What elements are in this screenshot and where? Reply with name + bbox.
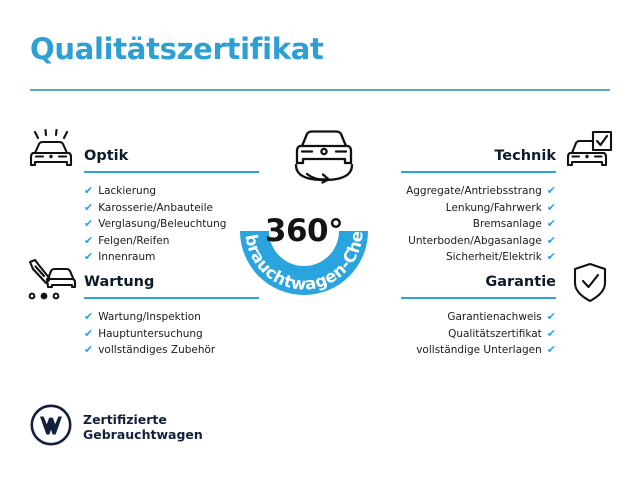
list-item-label: Felgen/Reifen <box>98 233 169 250</box>
check-icon: ✔ <box>547 200 556 217</box>
page-title: Qualitätszertifikat <box>30 32 324 66</box>
car-rotate-icon <box>282 124 366 190</box>
check-icon: ✔ <box>84 200 93 217</box>
list-item: vollständige Unterlagen✔ <box>401 342 556 359</box>
list-item-label: Wartung/Inspektion <box>98 309 201 326</box>
check-icon: ✔ <box>84 183 93 200</box>
list-item: ✔vollständiges Zubehör <box>84 342 259 359</box>
list-item-label: Sicherheit/Elektrik <box>446 249 542 266</box>
car-checkbox-icon <box>562 129 614 177</box>
check-icon: ✔ <box>547 309 556 326</box>
list-item-label: Aggregate/Antriebsstrang <box>406 183 542 200</box>
checklist: Aggregate/Antriebsstrang✔ Lenkung/Fahrwe… <box>401 183 556 266</box>
check-icon: ✔ <box>84 216 93 233</box>
list-item-label: Bremsanlage <box>473 216 542 233</box>
section-header: Garantie <box>401 272 556 302</box>
check-icon: ✔ <box>84 309 93 326</box>
shield-check-icon <box>570 261 610 309</box>
section-garantie: Garantie Garantienachweis✔ Qualitätszert… <box>401 272 556 375</box>
list-item-label: Qualitätszertifikat <box>448 326 542 343</box>
vw-footer-text: Zertifizierte Gebrauchtwagen <box>83 412 203 443</box>
list-item: Lenkung/Fahrwerk✔ <box>401 200 556 217</box>
check-icon: ✔ <box>547 249 556 266</box>
check-icon: ✔ <box>547 183 556 200</box>
qualitaetszertifikat-page: Qualitätszertifikat <box>0 0 640 480</box>
list-item-label: Lenkung/Fahrwerk <box>446 200 542 217</box>
vw-logo-icon <box>30 404 72 450</box>
check-icon: ✔ <box>547 326 556 343</box>
list-item-label: Unterboden/Abgasanlage <box>408 233 542 250</box>
list-item: Garantienachweis✔ <box>401 309 556 326</box>
list-item-label: vollständige Unterlagen <box>416 342 542 359</box>
title-divider <box>30 89 610 91</box>
section-divider <box>401 297 556 299</box>
list-item-label: Innenraum <box>98 249 155 266</box>
list-item-label: Karosserie/Anbauteile <box>98 200 213 217</box>
list-item: Bremsanlage✔ <box>401 216 556 233</box>
list-item-label: vollständiges Zubehör <box>98 342 215 359</box>
list-item-label: Garantienachweis <box>447 309 541 326</box>
check-icon: ✔ <box>84 233 93 250</box>
list-item: ✔Wartung/Inspektion <box>84 309 259 326</box>
check-icon: ✔ <box>547 233 556 250</box>
section-divider <box>401 171 556 173</box>
check-icon: ✔ <box>547 216 556 233</box>
section-title: Technik <box>401 146 556 166</box>
section-title: Garantie <box>401 272 556 292</box>
check-icon: ✔ <box>84 342 93 359</box>
list-item-label: Lackierung <box>98 183 156 200</box>
car-shine-icon <box>26 129 76 177</box>
wrench-car-icon <box>24 258 78 308</box>
checklist: ✔Wartung/Inspektion ✔Hauptuntersuchung ✔… <box>84 309 259 359</box>
check-icon: ✔ <box>84 249 93 266</box>
section-technik: Technik Aggregate/Antriebsstrang✔ Lenkun… <box>401 146 556 282</box>
section-header: Technik <box>401 146 556 176</box>
check-icon: ✔ <box>547 342 556 359</box>
vw-footer: Zertifizierte Gebrauchtwagen <box>30 404 203 450</box>
list-item-label: Verglasung/Beleuchtung <box>98 216 226 233</box>
check-icon: ✔ <box>84 326 93 343</box>
list-item: Unterboden/Abgasanlage✔ <box>401 233 556 250</box>
list-item: Qualitätszertifikat✔ <box>401 326 556 343</box>
list-item: Sicherheit/Elektrik✔ <box>401 249 556 266</box>
list-item: Aggregate/Antriebsstrang✔ <box>401 183 556 200</box>
list-item: ✔Hauptuntersuchung <box>84 326 259 343</box>
list-item-label: Hauptuntersuchung <box>98 326 203 343</box>
checklist: Garantienachweis✔ Qualitätszertifikat✔ v… <box>401 309 556 359</box>
